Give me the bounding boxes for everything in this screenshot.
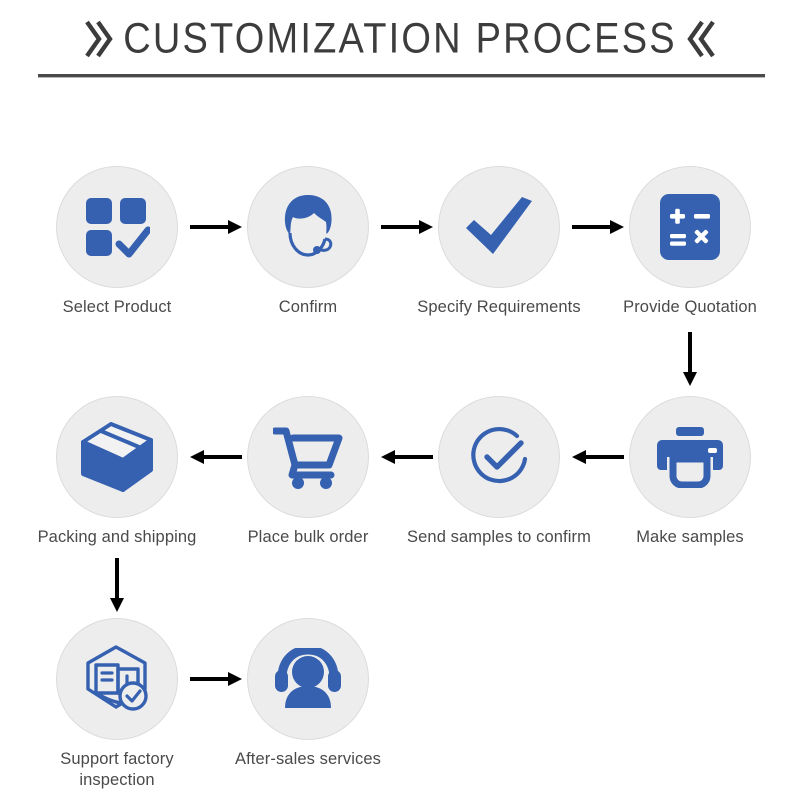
title-divider xyxy=(38,74,765,78)
process-step-3[interactable]: Specify Requirements xyxy=(404,166,594,318)
connector-arrow-8-9 xyxy=(109,558,125,612)
step-icon-circle xyxy=(247,166,369,288)
process-step-6[interactable]: Send samples to confirm xyxy=(404,396,594,548)
page-title: CUSTOMIZATION PROCESS xyxy=(123,15,677,63)
printer-icon xyxy=(656,426,724,488)
step-icon-circle xyxy=(56,396,178,518)
step-icon-circle xyxy=(629,166,751,288)
process-step-7[interactable]: Place bulk order xyxy=(213,396,403,548)
step-icon-circle xyxy=(247,396,369,518)
circle-check-icon xyxy=(465,423,533,491)
process-step-4[interactable]: Provide Quotation xyxy=(595,166,785,318)
shopping-cart-icon xyxy=(273,425,343,489)
support-agent-icon xyxy=(273,648,343,710)
shield-inspection-icon xyxy=(82,645,152,713)
step-label: Make samples xyxy=(595,527,785,548)
step-label: Select Product xyxy=(22,297,212,318)
process-step-5[interactable]: Make samples xyxy=(595,396,785,548)
page-title-bar: CUSTOMIZATION PROCESS xyxy=(0,8,800,70)
step-icon-circle xyxy=(56,618,178,740)
process-step-8[interactable]: Packing and shipping xyxy=(22,396,212,548)
step-label: Support factory inspection xyxy=(22,749,212,791)
step-icon-circle xyxy=(247,618,369,740)
step-label: Provide Quotation xyxy=(595,297,785,318)
step-icon-circle xyxy=(438,396,560,518)
step-label: Send samples to confirm xyxy=(404,527,594,548)
step-label: Confirm xyxy=(213,297,403,318)
package-box-icon xyxy=(81,422,153,492)
checkmark-icon xyxy=(463,195,535,259)
step-label: Place bulk order xyxy=(213,527,403,548)
connector-arrow-4-5 xyxy=(682,332,698,386)
headset-operator-icon xyxy=(274,193,342,261)
grid-check-icon xyxy=(84,196,150,258)
step-label: Specify Requirements xyxy=(404,297,594,318)
double-chevron-right-icon xyxy=(83,16,113,62)
process-step-9[interactable]: Support factory inspection xyxy=(22,618,212,791)
step-label: After-sales services xyxy=(213,749,403,770)
step-icon-circle xyxy=(438,166,560,288)
calculator-icon xyxy=(659,193,721,261)
process-step-2[interactable]: Confirm xyxy=(213,166,403,318)
step-icon-circle xyxy=(56,166,178,288)
step-label: Packing and shipping xyxy=(22,527,212,548)
process-step-10[interactable]: After-sales services xyxy=(213,618,403,770)
step-icon-circle xyxy=(629,396,751,518)
process-step-1[interactable]: Select Product xyxy=(22,166,212,318)
double-chevron-left-icon xyxy=(687,16,717,62)
